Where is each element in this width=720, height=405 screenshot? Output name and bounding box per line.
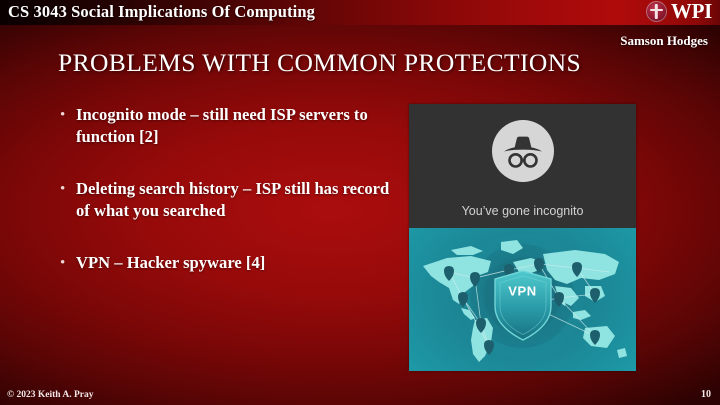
slide-image-panel: You’ve gone incognito xyxy=(409,104,636,371)
bullet-text: VPN – Hacker spyware [4] xyxy=(76,252,265,274)
bullet-text: Incognito mode – still need ISP servers … xyxy=(76,104,390,148)
slide-header-bar: CS 3043 Social Implications Of Computing xyxy=(0,0,720,25)
wpi-wordmark: WPI xyxy=(671,1,712,22)
bullet-marker-icon: • xyxy=(60,178,76,200)
page-number: 10 xyxy=(701,389,711,400)
vpn-image: VPN xyxy=(409,228,636,371)
list-item: • Incognito mode – still need ISP server… xyxy=(60,104,390,148)
bullet-marker-icon: • xyxy=(60,252,76,274)
incognito-hat-glasses-icon xyxy=(492,120,554,182)
course-title: CS 3043 Social Implications Of Computing xyxy=(8,2,315,22)
footer-copyright: © 2023 Keith A. Pray xyxy=(7,390,94,400)
presenter-name: Samson Hodges xyxy=(620,33,708,49)
bullet-text: Deleting search history – ISP still has … xyxy=(76,178,390,222)
wpi-seal-icon xyxy=(646,1,667,22)
presentation-slide: CS 3043 Social Implications Of Computing… xyxy=(0,0,720,405)
list-item: • VPN – Hacker spyware [4] xyxy=(60,252,390,274)
wpi-logo: WPI xyxy=(646,1,712,22)
incognito-image: You’ve gone incognito xyxy=(409,104,636,228)
vpn-shield-icon xyxy=(492,270,554,342)
bullet-marker-icon: • xyxy=(60,104,76,126)
slide-title: PROBLEMS WITH COMMON PROTECTIONS xyxy=(58,48,581,78)
bullet-list: • Incognito mode – still need ISP server… xyxy=(60,104,390,304)
list-item: • Deleting search history – ISP still ha… xyxy=(60,178,390,222)
incognito-caption: You’ve gone incognito xyxy=(409,204,636,218)
vpn-shield-label: VPN xyxy=(508,284,537,299)
